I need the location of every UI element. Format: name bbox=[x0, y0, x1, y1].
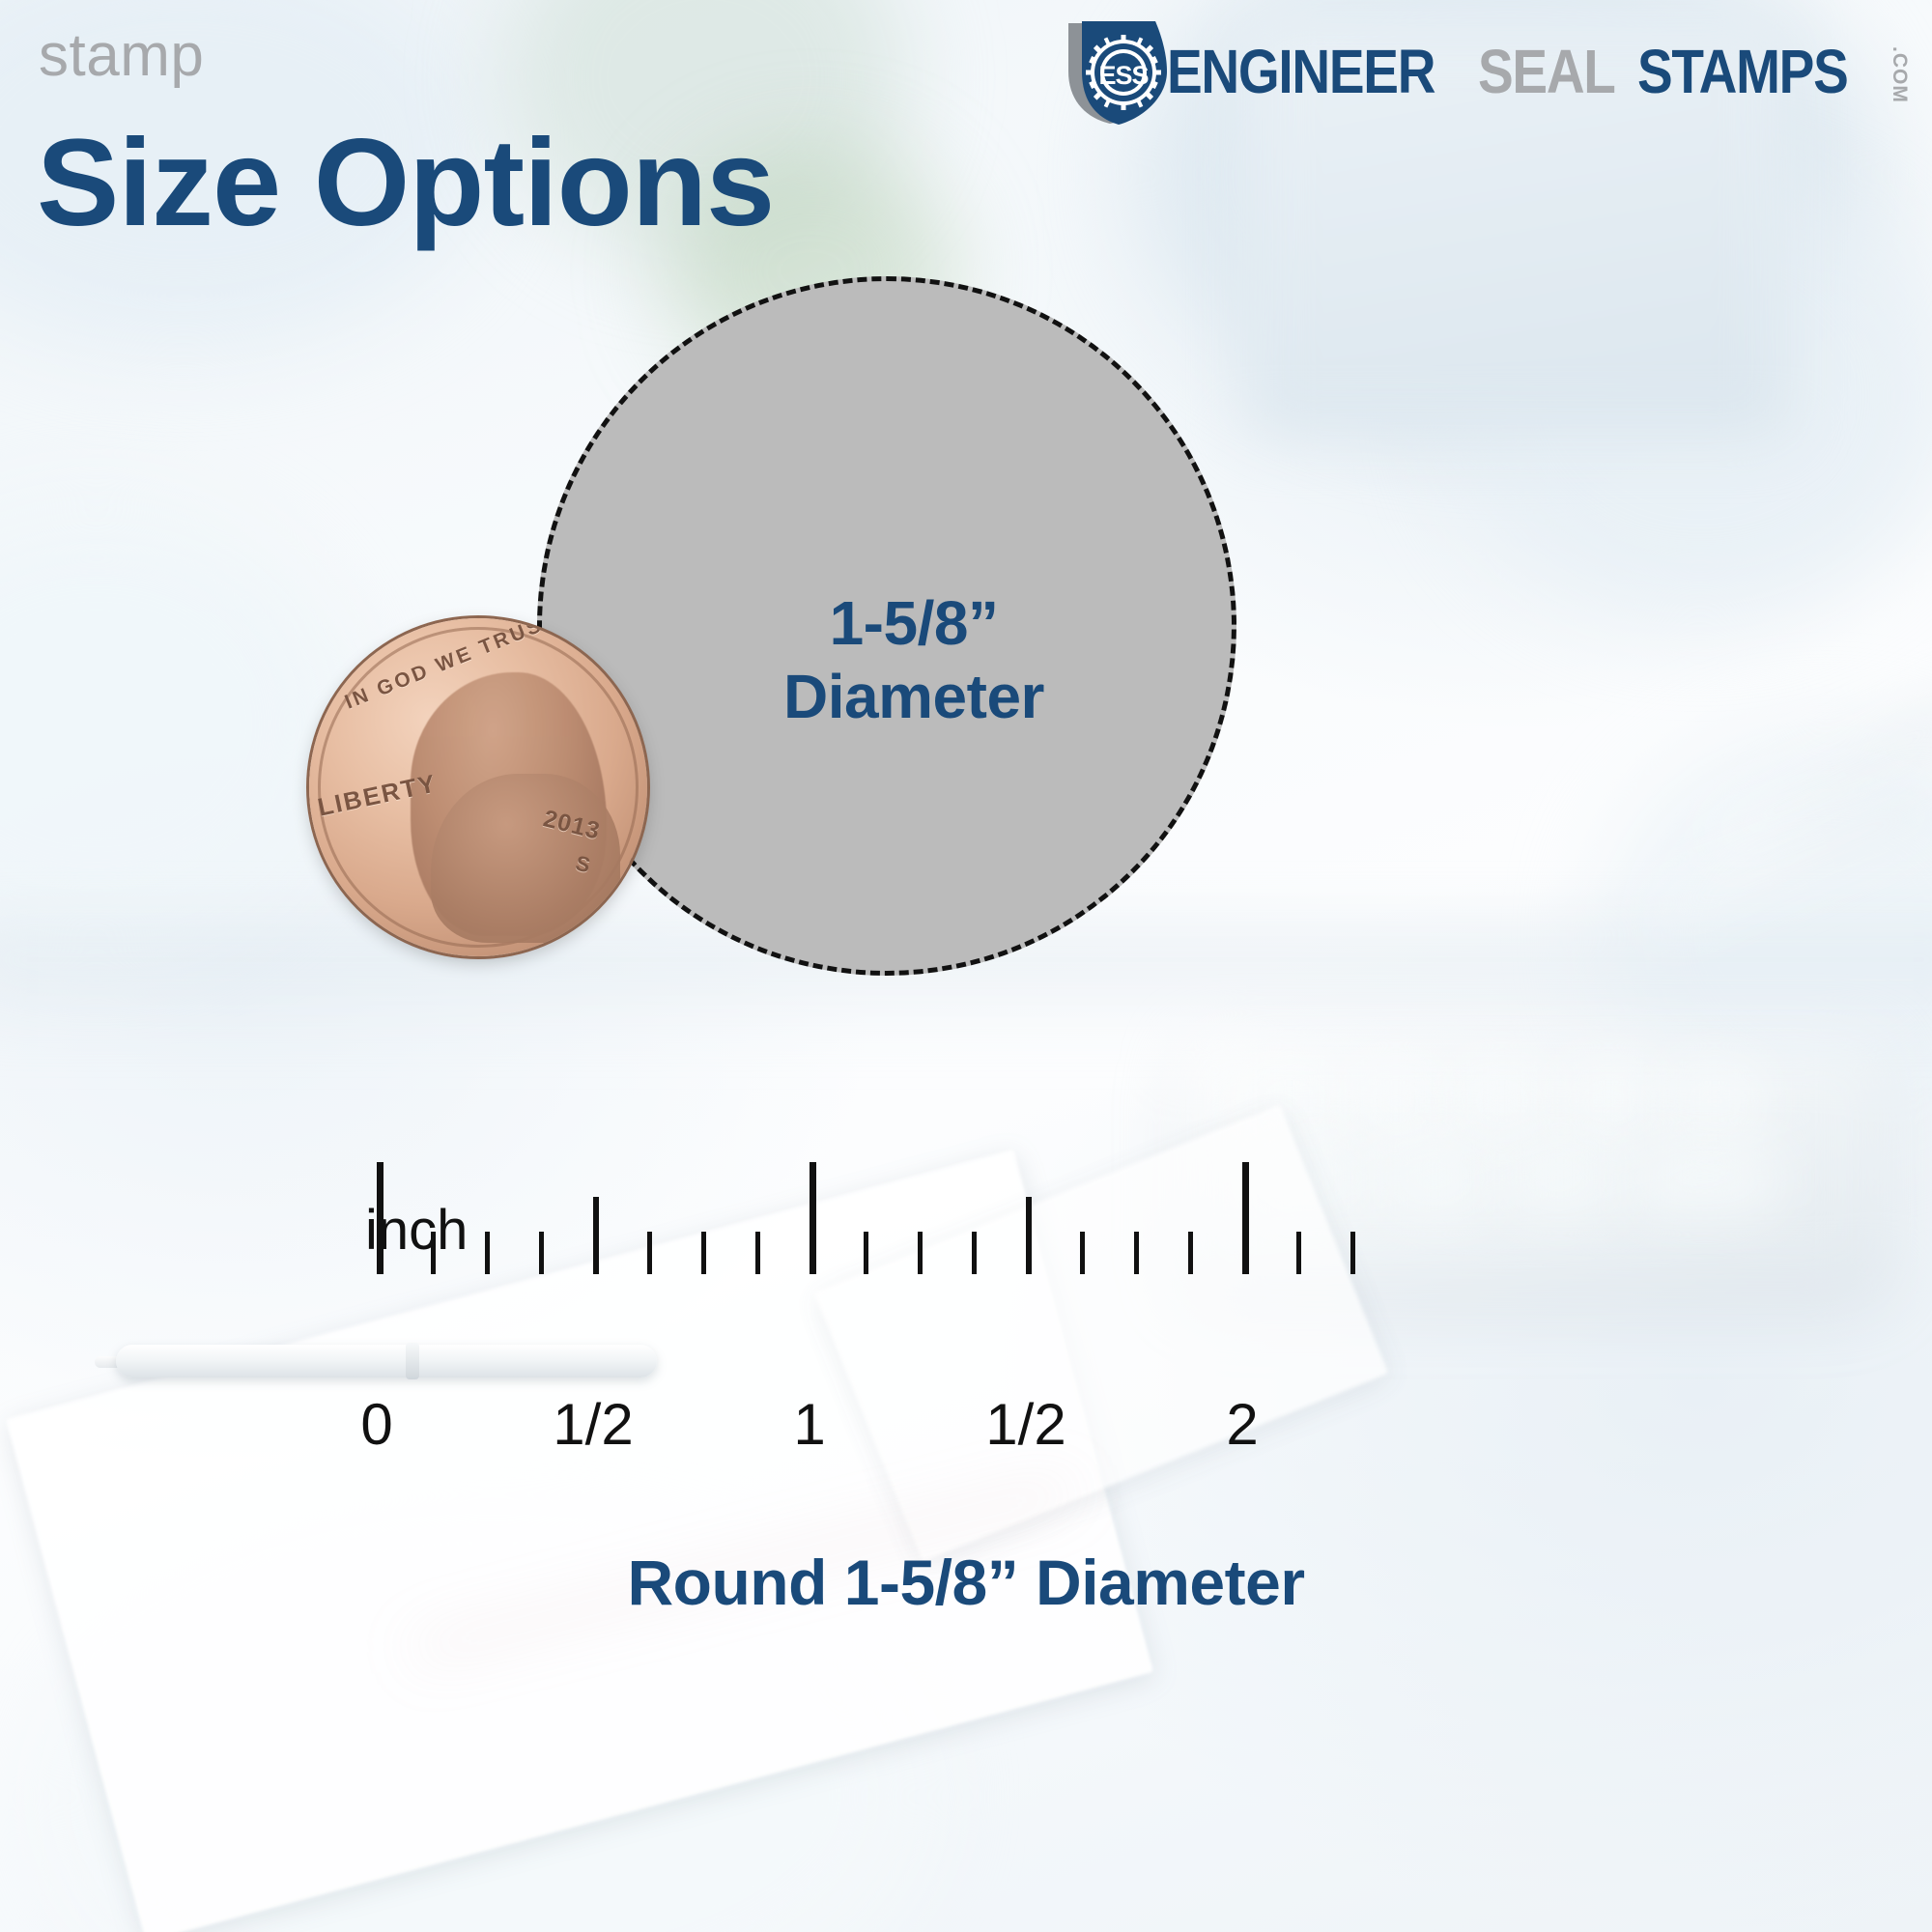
ruler-tick bbox=[810, 1162, 816, 1274]
ruler-tick bbox=[755, 1232, 760, 1274]
ruler-tick bbox=[701, 1232, 706, 1274]
size-options-graphic: stamp Size Options bbox=[0, 0, 1932, 1932]
brand-logo[interactable]: ESS ENGINEER SEAL STAMPS .COM bbox=[1063, 15, 1911, 128]
kicker-text: stamp bbox=[39, 21, 204, 90]
size-caption: Round 1-5/8” Diameter bbox=[0, 1546, 1932, 1619]
ruler-tick bbox=[1026, 1197, 1032, 1274]
ruler-tick bbox=[539, 1232, 544, 1274]
ruler-tick bbox=[1134, 1232, 1139, 1274]
ruler-tick-label: 1 bbox=[793, 1391, 825, 1458]
logo-word-stamps: STAMPS bbox=[1637, 41, 1848, 102]
ruler-tick-label: 2 bbox=[1226, 1391, 1258, 1458]
ruler-tick bbox=[1296, 1232, 1301, 1274]
ruler-tick-label: 1/2 bbox=[985, 1391, 1065, 1458]
ruler-tick bbox=[1080, 1232, 1085, 1274]
logo-word-engineer: ENGINEER bbox=[1167, 41, 1435, 102]
ruler-tick bbox=[1188, 1232, 1193, 1274]
ruler-tick bbox=[431, 1232, 436, 1274]
ruler-tick-label: 0 bbox=[360, 1391, 392, 1458]
stamp-size-line-2: Diameter bbox=[783, 661, 1044, 734]
ruler-tick bbox=[972, 1232, 977, 1274]
penny-coin: IN GOD WE TRUST LIBERTY 2013 S bbox=[309, 618, 647, 956]
pen-body bbox=[116, 1345, 657, 1378]
ess-badge-icon: ESS bbox=[1063, 15, 1171, 128]
ruler-tick bbox=[1242, 1162, 1249, 1274]
ruler-tick-label: 1/2 bbox=[553, 1391, 633, 1458]
coin-shoulder bbox=[431, 774, 620, 943]
stamp-size-line-1: 1-5/8” bbox=[783, 587, 1044, 661]
logo-word-seal: SEAL bbox=[1478, 41, 1615, 102]
pen-ring bbox=[406, 1343, 419, 1379]
ruler bbox=[377, 1273, 1488, 1274]
ruler-tick bbox=[918, 1232, 923, 1274]
ruler-tick bbox=[377, 1162, 384, 1274]
pen-object bbox=[116, 1335, 657, 1383]
stamp-size-label: 1-5/8” Diameter bbox=[783, 587, 1044, 733]
ruler-tick bbox=[647, 1232, 652, 1274]
stamp-size-preview: 1-5/8” Diameter bbox=[537, 276, 1236, 976]
ruler-tick bbox=[593, 1197, 599, 1274]
ruler-tick bbox=[864, 1232, 868, 1274]
ruler-tick bbox=[1350, 1232, 1355, 1274]
svg-text:ESS: ESS bbox=[1099, 61, 1149, 90]
page-title: Size Options bbox=[37, 122, 774, 245]
logo-tld: .COM bbox=[1888, 46, 1911, 103]
ruler-tick bbox=[485, 1232, 490, 1274]
